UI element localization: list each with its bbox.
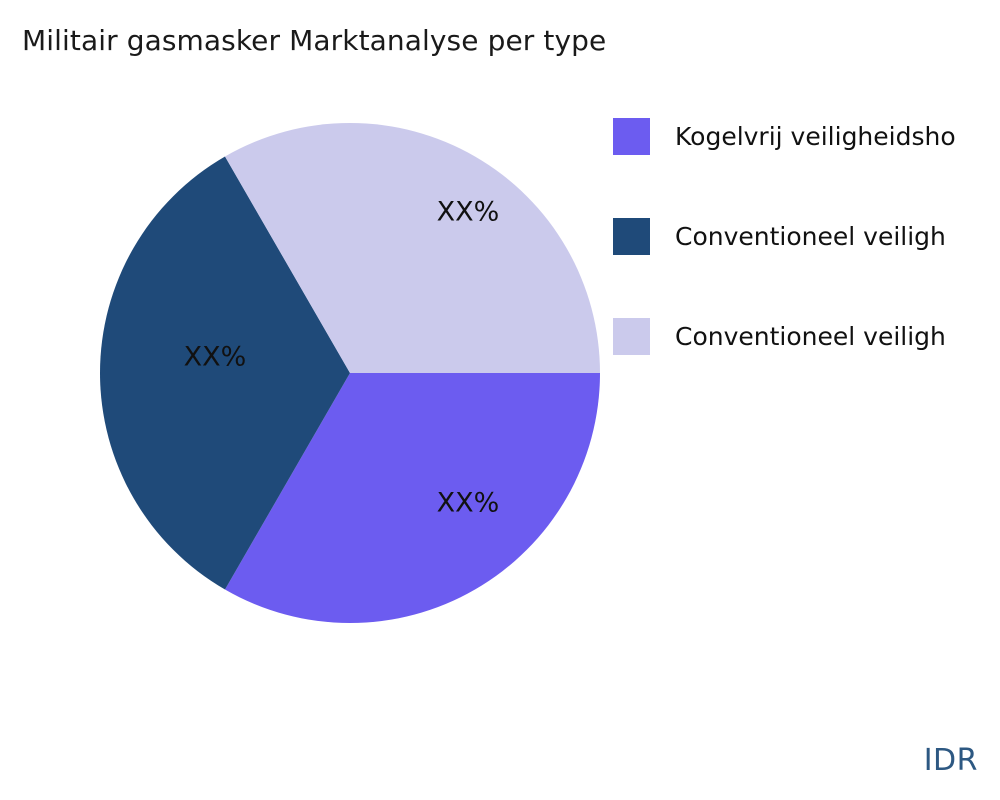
watermark-idr: IDR (924, 743, 978, 778)
pie-slice-label: XX% (184, 342, 247, 373)
pie-slice-label: XX% (437, 197, 500, 228)
legend-item-label: Conventioneel veiligh (675, 322, 946, 351)
chart-legend: Kogelvrij veiligheidshoConventioneel vei… (613, 118, 1000, 368)
legend-item[interactable]: Kogelvrij veiligheidsho (613, 118, 956, 155)
legend-item[interactable]: Conventioneel veiligh (613, 218, 946, 255)
pie-slice-group (100, 123, 600, 623)
chart-page: Militair gasmasker Marktanalyse per type… (0, 0, 1000, 800)
legend-swatch-kogelvrij (613, 118, 650, 155)
legend-swatch-conventioneel-2 (613, 318, 650, 355)
pie-slice-label: XX% (437, 488, 500, 519)
legend-swatch-conventioneel-1 (613, 218, 650, 255)
legend-item[interactable]: Conventioneel veiligh (613, 318, 946, 355)
legend-item-label: Conventioneel veiligh (675, 222, 946, 251)
legend-item-label: Kogelvrij veiligheidsho (675, 122, 956, 151)
